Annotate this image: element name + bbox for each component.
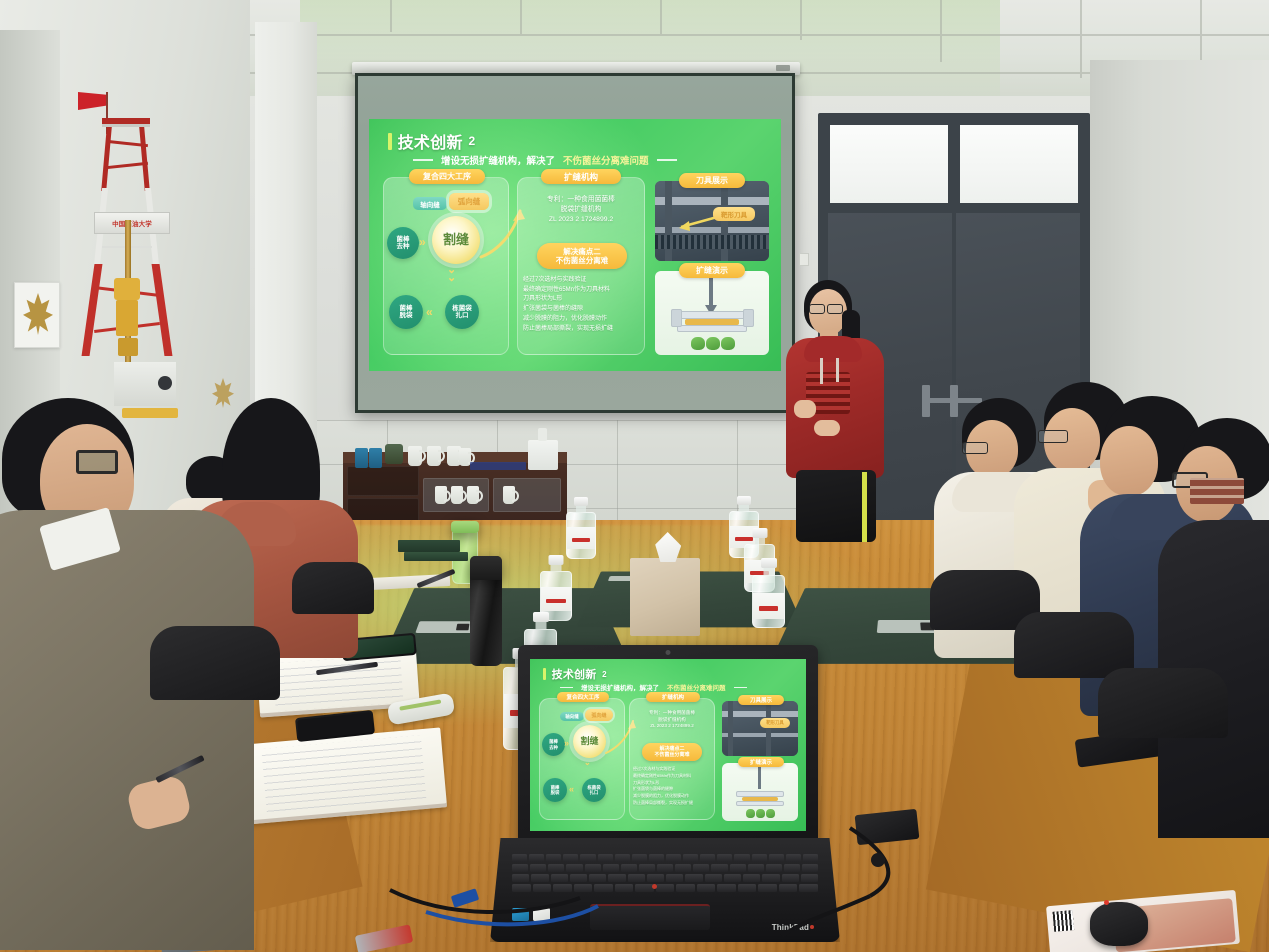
tool-display-caption: 刀具展示	[679, 173, 745, 188]
bottle-cap[interactable]	[533, 612, 549, 622]
presenter-hood	[804, 336, 862, 362]
bullet-item: 扩张菌袋与菌棒的缝隙	[523, 305, 643, 315]
derrick-travelling-block	[114, 278, 140, 300]
machine-frame-l	[728, 701, 733, 756]
maple-leaf-icon	[23, 293, 53, 335]
bullet-item: 减少脱膜的阻力，优化脱膜动作	[523, 315, 643, 325]
tag-axial-seam: 轴向缝	[413, 197, 447, 210]
derrick-upper-leg-l	[101, 127, 112, 191]
laptop-tool-photo: 靶形刀具	[722, 701, 798, 756]
subtitle-dash-right	[734, 687, 747, 688]
bottle-cap[interactable]	[574, 497, 588, 506]
credenza-inner-cup-3	[467, 486, 479, 504]
presenter-drawstring-l	[820, 358, 823, 384]
wall-pillar	[255, 22, 317, 442]
port-socket[interactable]	[456, 624, 470, 631]
patent-line-1: 专利：一种食用菌菌棒	[631, 710, 713, 717]
bottle-body	[566, 512, 596, 559]
laptop-slide-title-number: 2	[602, 670, 607, 679]
laptop-screen: 技术创新 2 增设无损扩缝机构，解决了 不伤菌丝分离难问题 复合四大工序 轴向缝	[530, 659, 806, 831]
machine-rail-1	[655, 197, 769, 205]
subtitle-part-2: 不伤菌丝分离难问题	[667, 682, 726, 692]
patent-line-2: 脱袋扩缝机构	[521, 205, 641, 215]
pain-point-pill: 解决痛点二 不伤菌丝分离难	[537, 243, 627, 269]
pain-point-line-1: 解决痛点二	[563, 247, 601, 256]
mushroom-log-3	[721, 337, 735, 350]
laptop-bullet-list: 经过7次选材与实践验证 最终确定刚性65Mn作为刀具材料 刀具形状为L形 扩张菌…	[633, 766, 715, 807]
photo-tool-tag: 靶形刀具	[713, 207, 755, 221]
laptop-photo-tag: 靶形刀具	[760, 718, 790, 728]
center-circle-cutting: 割缝	[432, 216, 480, 264]
demo-plunger	[758, 767, 761, 789]
derrick-rotary-table	[118, 338, 138, 356]
bullet-item: 最终确定刚性65Mn作为刀具材料	[633, 773, 715, 780]
door-transom-windows	[828, 123, 1080, 205]
slide-subtitle: 增设无损扩缝机构，解决了 不伤菌丝分离难问题	[413, 153, 677, 167]
green-folder-stack[interactable]	[398, 540, 460, 552]
credenza-inner-cup-1	[435, 486, 447, 504]
blue-storage-box-2	[369, 448, 382, 468]
tissue-box[interactable]	[630, 558, 700, 636]
water-bottle[interactable]	[752, 558, 785, 628]
mid-panel-header-pill: 扩缝机构	[541, 169, 621, 184]
bottle-neck	[763, 568, 774, 575]
demo-block-r	[743, 309, 754, 327]
green-folder-stack-2[interactable]	[404, 552, 468, 561]
derrick-base-wheel	[158, 376, 172, 390]
bullet-item: 经过7次选材与实践验证	[633, 766, 715, 773]
presenter-glasses	[809, 304, 825, 314]
subtitle-dash-right	[657, 159, 677, 161]
laptop-slide-subtitle: 增设无损扩缝机构，解决了 不伤菌丝分离难问题	[560, 682, 747, 692]
chair-left-1[interactable]	[150, 626, 280, 700]
bottle-cap[interactable]	[761, 558, 777, 568]
laptop-lid: 技术创新 2 增设无损扩缝机构，解决了 不伤菌丝分离难问题 复合四大工序 轴向缝	[518, 645, 818, 845]
laptop-slide-title: 技术创新	[552, 666, 597, 682]
chevron-down-icon: ⌄⌄	[447, 267, 456, 282]
bottle-label-stripe	[759, 606, 779, 611]
bullet-item: 防止菌棒局部撕裂，实现无损扩缝	[633, 800, 715, 807]
laptop-step-3: 菌棒 脱袋	[543, 778, 567, 802]
pain-point-line-2: 不伤菌丝分离难	[654, 752, 689, 758]
presenter-pants-stripe	[862, 472, 867, 542]
credenza-inner-cup-2	[451, 486, 463, 504]
attendee-right-3-head	[1100, 426, 1158, 496]
patent-line-3: ZL 2023 2 1724899.2	[631, 723, 713, 730]
screen-surface: 技术创新 2 增设无损扩缝机构，解决了 不伤菌丝分离难问题 复合四大工序 轴向缝…	[358, 76, 792, 410]
attendee-left-1-jacket	[0, 510, 254, 950]
derrick-hook	[116, 300, 138, 336]
bottle-cap[interactable]	[737, 496, 751, 505]
laptop-left-header-pill: 复合四大工序	[557, 692, 609, 702]
demo-plate-bottom	[677, 325, 747, 332]
mushroom-log-1	[691, 337, 705, 350]
transom-pane-left	[828, 123, 950, 205]
laptop-demo-illustration	[722, 763, 798, 821]
bullet-item: 经过7次选材与实践验证	[523, 276, 643, 286]
seam-demo-illustration	[655, 271, 769, 355]
title-accent-bar	[543, 668, 546, 680]
derrick-university-label: 中国石油大学	[100, 218, 164, 228]
bullet-item: 刀具形状为L形	[523, 295, 643, 305]
sanitizer-pump	[538, 428, 547, 441]
chair-right-3[interactable]	[1098, 668, 1228, 738]
conference-room-scene: 中国石油大学 技术创新 2	[0, 0, 1269, 952]
laptop-step-2: 栋菌袋 扎口	[582, 778, 606, 802]
water-bottle[interactable]	[566, 497, 596, 559]
title-accent-bar	[388, 133, 392, 150]
mushroom-log-2	[756, 809, 765, 818]
chevron-right-icon: »	[419, 235, 424, 249]
wall-switch-plate[interactable]	[799, 253, 809, 266]
qr-code-icon	[1053, 910, 1075, 932]
demo-plate-bottom	[736, 801, 784, 806]
slide-bullet-list: 经过7次选材与实践验证 最终确定刚性65Mn作为刀具材料 刀具形状为L形 扩张菌…	[523, 276, 643, 334]
subtitle-dash-left	[413, 159, 433, 161]
laptop-tag-axial: 轴向缝	[560, 712, 584, 721]
step-remove-seed: 菌棒 去种	[387, 227, 419, 259]
credenza-inner-cup-4	[503, 486, 515, 504]
leaf-artwork-frame	[14, 282, 60, 348]
mushroom-log-3	[766, 809, 775, 818]
patent-line-1: 专利：一种食用菌菌棒	[521, 195, 641, 205]
subtitle-part-1: 增设无损扩缝机构，解决了	[581, 682, 659, 692]
patent-text: 专利：一种食用菌菌棒 脱袋扩缝机构 ZL 2023 2 1724899.2	[521, 195, 641, 225]
laptop-slide-title-bar: 技术创新 2	[543, 666, 607, 682]
machine-teeth	[655, 235, 769, 249]
machine-frame-r	[766, 701, 771, 756]
thermos-lid[interactable]	[470, 556, 502, 580]
webcam-icon	[666, 650, 671, 655]
step-tie-bag: 栋菌袋 扎口	[445, 295, 479, 329]
seam-demo-caption: 扩缝演示	[679, 263, 745, 278]
slide-title-bar: 技术创新 2	[388, 129, 475, 153]
bottle-cap[interactable]	[549, 555, 564, 565]
computer-mouse[interactable]	[1090, 902, 1148, 946]
demo-plate-top	[677, 311, 747, 319]
presenter	[780, 280, 900, 540]
laptop-pain-pill: 解决痛点二 不伤菌丝分离难	[642, 743, 702, 761]
slide-projected: 技术创新 2 增设无损扩缝机构，解决了 不伤菌丝分离难问题 复合四大工序 轴向缝…	[369, 119, 781, 371]
bullet-item: 减少脱膜的阻力，优化脱膜动作	[633, 793, 715, 800]
machine-rail-1	[722, 711, 798, 717]
laptop-demo-caption: 扩缝演示	[738, 757, 784, 767]
derrick-upper-leg-r	[139, 127, 150, 191]
bottle-label-stripe	[572, 538, 590, 542]
credenza-top-cup-2	[427, 446, 441, 466]
attendee-right-1-glasses	[962, 442, 988, 454]
slide-title-number: 2	[468, 134, 475, 148]
green-kettle	[385, 444, 403, 464]
laptop-patent-text: 专利：一种食用菌菌棒 脱袋扩缝机构 ZL 2023 2 1724899.2	[631, 710, 713, 730]
sanitizer-dispenser[interactable]	[528, 440, 558, 470]
photo-bg	[722, 701, 798, 756]
laptop-cables	[330, 820, 930, 940]
presenter-glasses	[827, 304, 843, 314]
chair-left-2[interactable]	[292, 562, 374, 614]
screen-roller-knob[interactable]	[776, 65, 790, 71]
patent-line-3: ZL 2023 2 1724899.2	[521, 215, 641, 225]
step-debag: 菌棒 脱袋	[389, 295, 423, 329]
laptop-mid-header-pill: 扩缝机构	[646, 692, 700, 702]
slide-on-laptop: 技术创新 2 增设无损扩缝机构，解决了 不伤菌丝分离难问题 复合四大工序 轴向缝	[530, 659, 806, 831]
shelf-boxes	[1190, 478, 1244, 504]
chair-right-2[interactable]	[1014, 612, 1134, 678]
red-flag	[78, 92, 108, 110]
bottle-label	[567, 527, 595, 549]
left-panel-header-pill: 复合四大工序	[409, 169, 485, 184]
door-lock-plate-left	[922, 385, 930, 417]
chevron-left-icon: «	[426, 305, 431, 319]
subtitle-dash-left	[560, 687, 573, 688]
remote-buttons[interactable]	[399, 699, 441, 710]
attendee-left-1-glasses	[76, 450, 118, 474]
bottle-label	[541, 587, 571, 611]
mouse-led	[1104, 900, 1109, 905]
green-cup-lid[interactable]	[451, 521, 479, 533]
derrick-lower-leg-r	[152, 264, 173, 356]
mushroom-log-1	[746, 809, 755, 818]
credenza-top-cup-1	[408, 446, 422, 466]
bullet-item: 最终确定刚性65Mn作为刀具材料	[523, 286, 643, 296]
projector-screen: 技术创新 2 增设无损扩缝机构，解决了 不伤菌丝分离难问题 复合四大工序 轴向缝…	[355, 73, 795, 413]
bottle-label	[753, 593, 784, 619]
attendee-right-2-glasses	[1038, 430, 1068, 443]
bottle-cap[interactable]	[752, 528, 767, 538]
slide-title: 技术创新	[398, 129, 463, 153]
laptop-tool-caption: 刀具展示	[738, 695, 784, 705]
tool-display-photo: 靶形刀具	[655, 181, 769, 261]
credenza-blue-folder	[470, 462, 526, 470]
chevron-right-icon: »	[564, 738, 568, 748]
bullet-item: 防止菌棒局部撕裂，实现无损扩缝	[523, 325, 643, 335]
mushroom-log-2	[706, 337, 720, 350]
desk-mat-port-left[interactable]	[415, 621, 476, 633]
bottle-neck	[535, 622, 546, 629]
chevron-down-icon: ⌄	[584, 760, 591, 766]
bottle-label-stripe	[546, 599, 565, 603]
transom-pane-right	[958, 123, 1080, 205]
machine-frame-l	[665, 181, 672, 261]
presenter-hand-right	[814, 420, 840, 436]
bottle-body	[752, 575, 785, 628]
pain-point-line-2: 不伤菌丝分离难	[556, 256, 609, 265]
laptop-step-1: 菌棒 去种	[542, 733, 565, 756]
presenter-drawstring-r	[836, 358, 839, 382]
chevron-left-icon: «	[569, 784, 573, 794]
machine-rail-2	[722, 733, 798, 737]
subtitle-part-2: 不伤菌丝分离难问题	[563, 153, 649, 167]
subtitle-part-1: 增设无损扩缝机构，解决了	[441, 153, 555, 167]
demo-block-l	[671, 309, 682, 327]
presenter-hand-left	[794, 400, 816, 418]
